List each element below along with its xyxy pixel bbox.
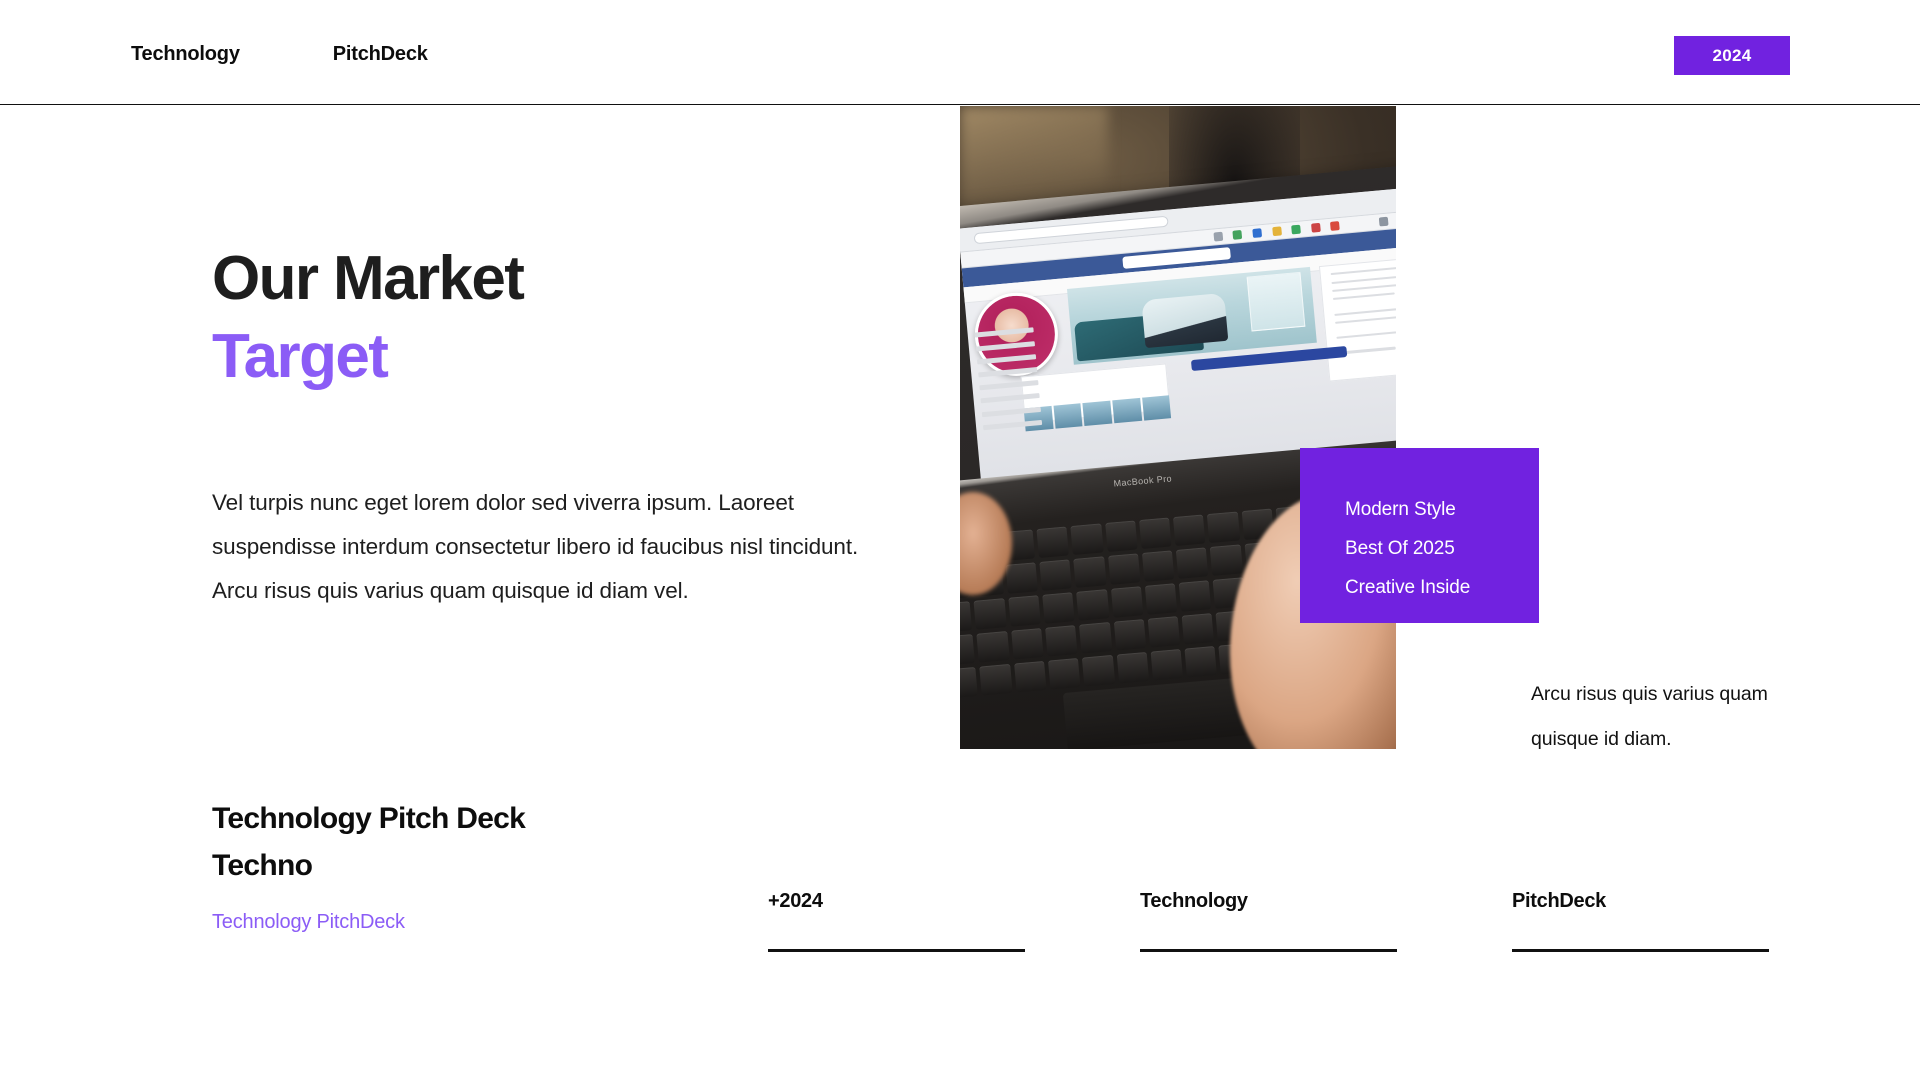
bottom-heading: Technology Pitch Deck Techno xyxy=(212,795,632,889)
laptop-screen xyxy=(960,185,1396,492)
thumbnail xyxy=(1112,398,1142,424)
panel-text-line xyxy=(1334,305,1396,316)
panel-text-line xyxy=(1332,282,1396,293)
panel-text-line xyxy=(1335,315,1396,325)
bookmark-icon xyxy=(1271,227,1281,237)
bookmark-icon xyxy=(1233,230,1243,240)
stat-label: PitchDeck xyxy=(1512,890,1769,913)
cover-person xyxy=(1141,293,1228,348)
year-badge[interactable]: 2024 xyxy=(1674,36,1790,75)
bookmark-icon xyxy=(1378,217,1388,227)
bookmark-icon xyxy=(1291,225,1301,235)
bookmark-icon xyxy=(1330,221,1340,231)
laptop-photo: MacBook Pro xyxy=(960,106,1396,749)
bookmark-icon xyxy=(1310,223,1320,233)
nav-item-technology[interactable]: Technology xyxy=(131,44,240,64)
year-badge-label: 2024 xyxy=(1712,46,1751,66)
slide-header: Technology PitchDeck 2024 xyxy=(0,0,1920,105)
feature-card-item-2: Best Of 2025 xyxy=(1345,529,1539,568)
hero-body-text: Vel turpis nunc eget lorem dolor sed viv… xyxy=(212,481,862,613)
social-right-panel xyxy=(1319,255,1396,382)
feature-card-item-3: Creative Inside xyxy=(1345,568,1539,607)
top-navigation: Technology PitchDeck xyxy=(131,44,428,64)
panel-text-line xyxy=(1336,329,1396,340)
thumbnail xyxy=(1082,400,1112,426)
thumbnail xyxy=(1053,403,1083,429)
feature-card: Modern Style Best Of 2025 Creative Insid… xyxy=(1300,448,1539,623)
stat-label: +2024 xyxy=(768,890,1025,913)
stat-item-technology: Technology xyxy=(1140,890,1397,952)
bookmark-icon xyxy=(1213,232,1223,242)
nav-item-pitchdeck[interactable]: PitchDeck xyxy=(333,44,428,64)
stat-divider xyxy=(1512,949,1769,952)
page-title-line-1: Our Market xyxy=(212,240,523,318)
page-title-line-2: Target xyxy=(212,318,523,396)
stat-label: Technology xyxy=(1140,890,1397,913)
panel-text-line xyxy=(1333,292,1395,300)
bottom-subtitle: Technology PitchDeck xyxy=(212,911,405,934)
bookmark-icon xyxy=(1252,228,1262,238)
page-title: Our Market Target xyxy=(212,240,523,396)
stat-divider xyxy=(1140,949,1397,952)
feature-card-item-1: Modern Style xyxy=(1345,490,1539,529)
photo-caption: Arcu risus quis varius quam quisque id d… xyxy=(1531,672,1801,762)
stat-item-year: +2024 xyxy=(768,890,1025,952)
panel-text-line xyxy=(1331,273,1396,285)
panel-text-line xyxy=(1330,267,1396,276)
stat-item-pitchdeck: PitchDeck xyxy=(1512,890,1769,952)
stat-divider xyxy=(768,949,1025,952)
feature-card-list: Modern Style Best Of 2025 Creative Insid… xyxy=(1300,448,1539,607)
slide-canvas: Technology PitchDeck 2024 Our Market Tar… xyxy=(0,0,1920,1080)
cover-window xyxy=(1247,273,1305,333)
thumbnail xyxy=(1141,395,1171,421)
